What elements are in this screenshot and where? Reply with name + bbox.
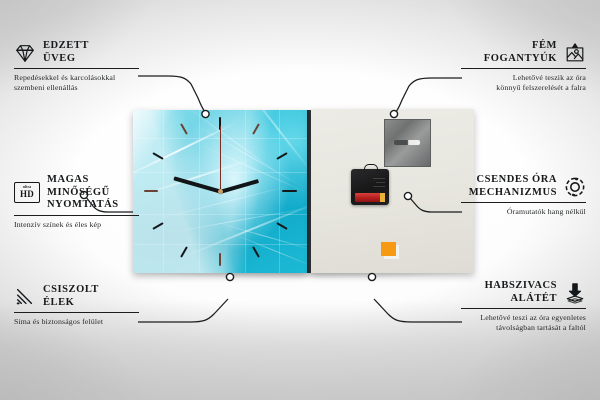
clock-mechanism-box (351, 169, 389, 205)
feature-title: CSENDES ÓRA MECHANIZMUS (469, 174, 557, 199)
feature-description: Lehetővé teszik az óra könnyű felszerelé… (461, 73, 586, 93)
feature-rule (461, 202, 586, 203)
feature-description: Lehetővé teszi az óra egyenletes távolsá… (461, 313, 586, 333)
clock-center-cap (218, 189, 223, 194)
feature-title: EDZETT ÜVEG (43, 40, 89, 65)
clock-tick (282, 190, 297, 192)
feature-title: FÉM FOGANTYÚK (484, 40, 557, 65)
feature-foam-pad: HABSZIVACS ALÁTÉT Lehetővé teszi az óra … (461, 280, 586, 333)
battery-positive-terminal (380, 193, 385, 202)
mechanism-battery (355, 193, 385, 202)
foam-pad-arrow-icon (564, 282, 586, 304)
feature-rule (14, 68, 139, 69)
clock-tick (219, 253, 221, 266)
feature-rule (14, 215, 139, 216)
clock-back-panel (311, 109, 474, 273)
feature-rule (461, 308, 586, 309)
clock-tick (144, 190, 158, 192)
feature-rule (14, 312, 139, 313)
feature-description: Sima és biztonságos felület (14, 317, 139, 327)
feature-description: Intenzív színek és éles kép (14, 220, 139, 230)
feature-rule (461, 68, 586, 69)
diamond-icon (14, 42, 36, 64)
polished-edges-icon (14, 286, 36, 308)
feature-high-quality-print: ultraHD MAGAS MINŐSÉGŰ NYOMTATÁS Intenzí… (14, 174, 139, 230)
feature-title: CSISZOLT ÉLEK (43, 284, 99, 309)
feature-title: HABSZIVACS ALÁTÉT (485, 280, 557, 305)
foam-spacer-pad (381, 242, 396, 256)
feature-metal-handles: FÉM FOGANTYÚK Lehetővé teszik az óra kön… (461, 40, 586, 93)
feature-description: Óramutatók hang nélkül (461, 207, 586, 217)
infographic-canvas: EDZETT ÜVEG Repedésekkel és karcolásokka… (0, 0, 600, 400)
clock-front-face (133, 110, 307, 273)
mechanism-shaft (364, 164, 378, 171)
feature-description: Repedésekkel és karcolásokkal szembeni e… (14, 73, 139, 93)
feature-tempered-glass: EDZETT ÜVEG Repedésekkel és karcolásokka… (14, 40, 139, 93)
picture-hanger-icon (564, 42, 586, 64)
ultra-hd-badge-icon: ultraHD (14, 182, 40, 203)
feature-polished-edges: CSISZOLT ÉLEK Sima és biztonságos felüle… (14, 284, 139, 327)
hanger-slot (394, 140, 420, 145)
gear-icon (564, 176, 586, 198)
feature-title: MAGAS MINŐSÉGŰ NYOMTATÁS (47, 174, 139, 212)
feature-quiet-mechanism: CSENDES ÓRA MECHANIZMUS Óramutatók hang … (461, 174, 586, 217)
clock-second-hand (220, 126, 221, 192)
product-image (133, 110, 474, 274)
metal-hanger-plate (384, 119, 431, 167)
